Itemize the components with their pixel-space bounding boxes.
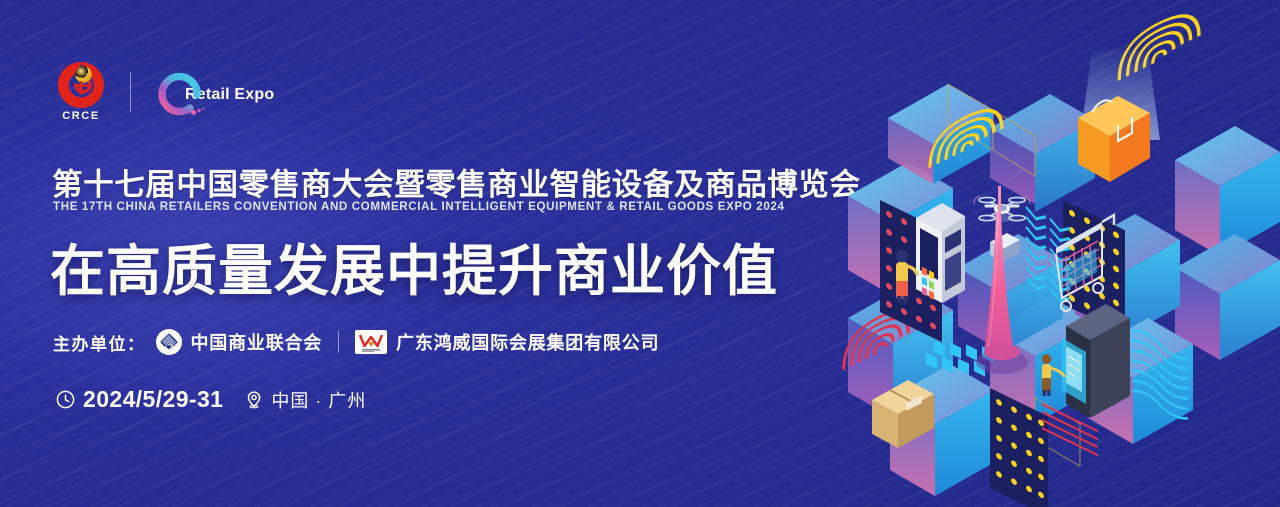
organizers-row: 主办单位：	[53, 325, 659, 359]
organizer-name-hongwei: 广东鸿威国际会展集团有限公司	[396, 329, 659, 355]
banner-content: CRCE	[0, 0, 860, 507]
shopping-bag-icon	[1078, 50, 1160, 182]
clock-icon	[56, 390, 75, 409]
event-date: 2024/5/29-31	[83, 386, 223, 413]
crce-emblem-icon	[56, 59, 106, 109]
organizers-label: 主办单位：	[53, 330, 146, 355]
location-pin-icon	[245, 390, 263, 409]
organizer-item-hongwei: 广东鸿威国际会展集团有限公司	[355, 329, 659, 355]
event-meta-row: 2024/5/29-31 中国 · 广州	[56, 386, 366, 413]
hongwei-emblem-icon	[355, 330, 387, 354]
cube-group-right	[1175, 126, 1280, 360]
page-title-cn: 第十七届中国零售商大会暨零售商业智能设备及商品博览会	[52, 160, 861, 204]
crce-logo: CRCE	[52, 59, 110, 125]
retail-expo-logo: Retail Expo	[149, 64, 274, 120]
organizer-name-ccmc: 中国商业联合会	[191, 329, 323, 355]
retail-expo-swoosh-icon	[149, 64, 207, 120]
page-title-en: THE 17TH CHINA RETAILERS CONVENTION AND …	[53, 200, 785, 213]
page-slogan: 在高质量发展中提升商业价值	[50, 226, 778, 306]
logo-row: CRCE	[52, 58, 274, 126]
ccmc-emblem-icon	[156, 329, 182, 355]
event-location: 中国 · 广州	[271, 387, 366, 413]
isometric-illustration	[830, 0, 1280, 507]
vending-machine-icon	[916, 203, 965, 303]
logo-divider	[130, 72, 131, 112]
organizer-divider	[338, 331, 339, 353]
organizer-item-ccmc: 中国商业联合会	[156, 329, 323, 355]
crce-logo-label: CRCE	[62, 110, 100, 122]
event-banner: CRCE	[0, 0, 1280, 507]
